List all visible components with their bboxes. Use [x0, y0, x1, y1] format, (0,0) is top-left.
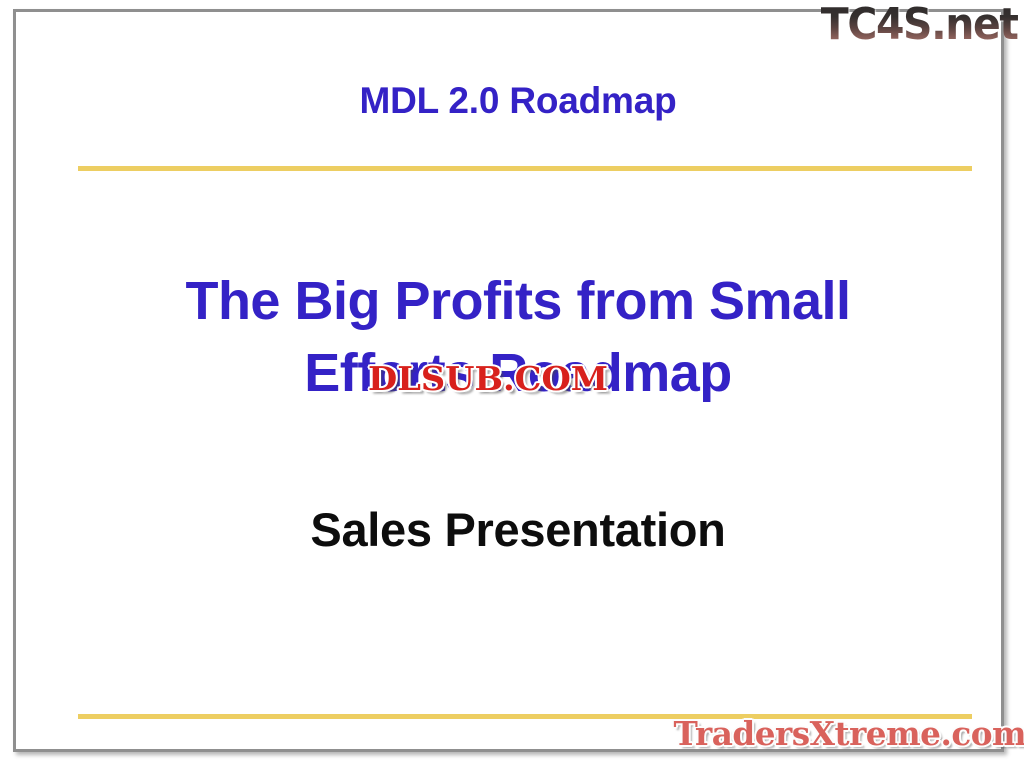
headline-block: The Big Profits from Small Efforts Roadm…: [16, 265, 1020, 409]
divider-rule-top: [78, 166, 972, 171]
headline-line-2: Efforts Roadmap: [16, 337, 1020, 409]
slide-title: MDL 2.0 Roadmap: [16, 78, 1020, 124]
divider-rule-bottom: [78, 714, 972, 719]
headline-line-1: The Big Profits from Small: [16, 265, 1020, 337]
slide-canvas: MDL 2.0 Roadmap The Big Profits from Sma…: [13, 9, 1004, 752]
subheading-text: Sales Presentation: [16, 501, 1020, 559]
